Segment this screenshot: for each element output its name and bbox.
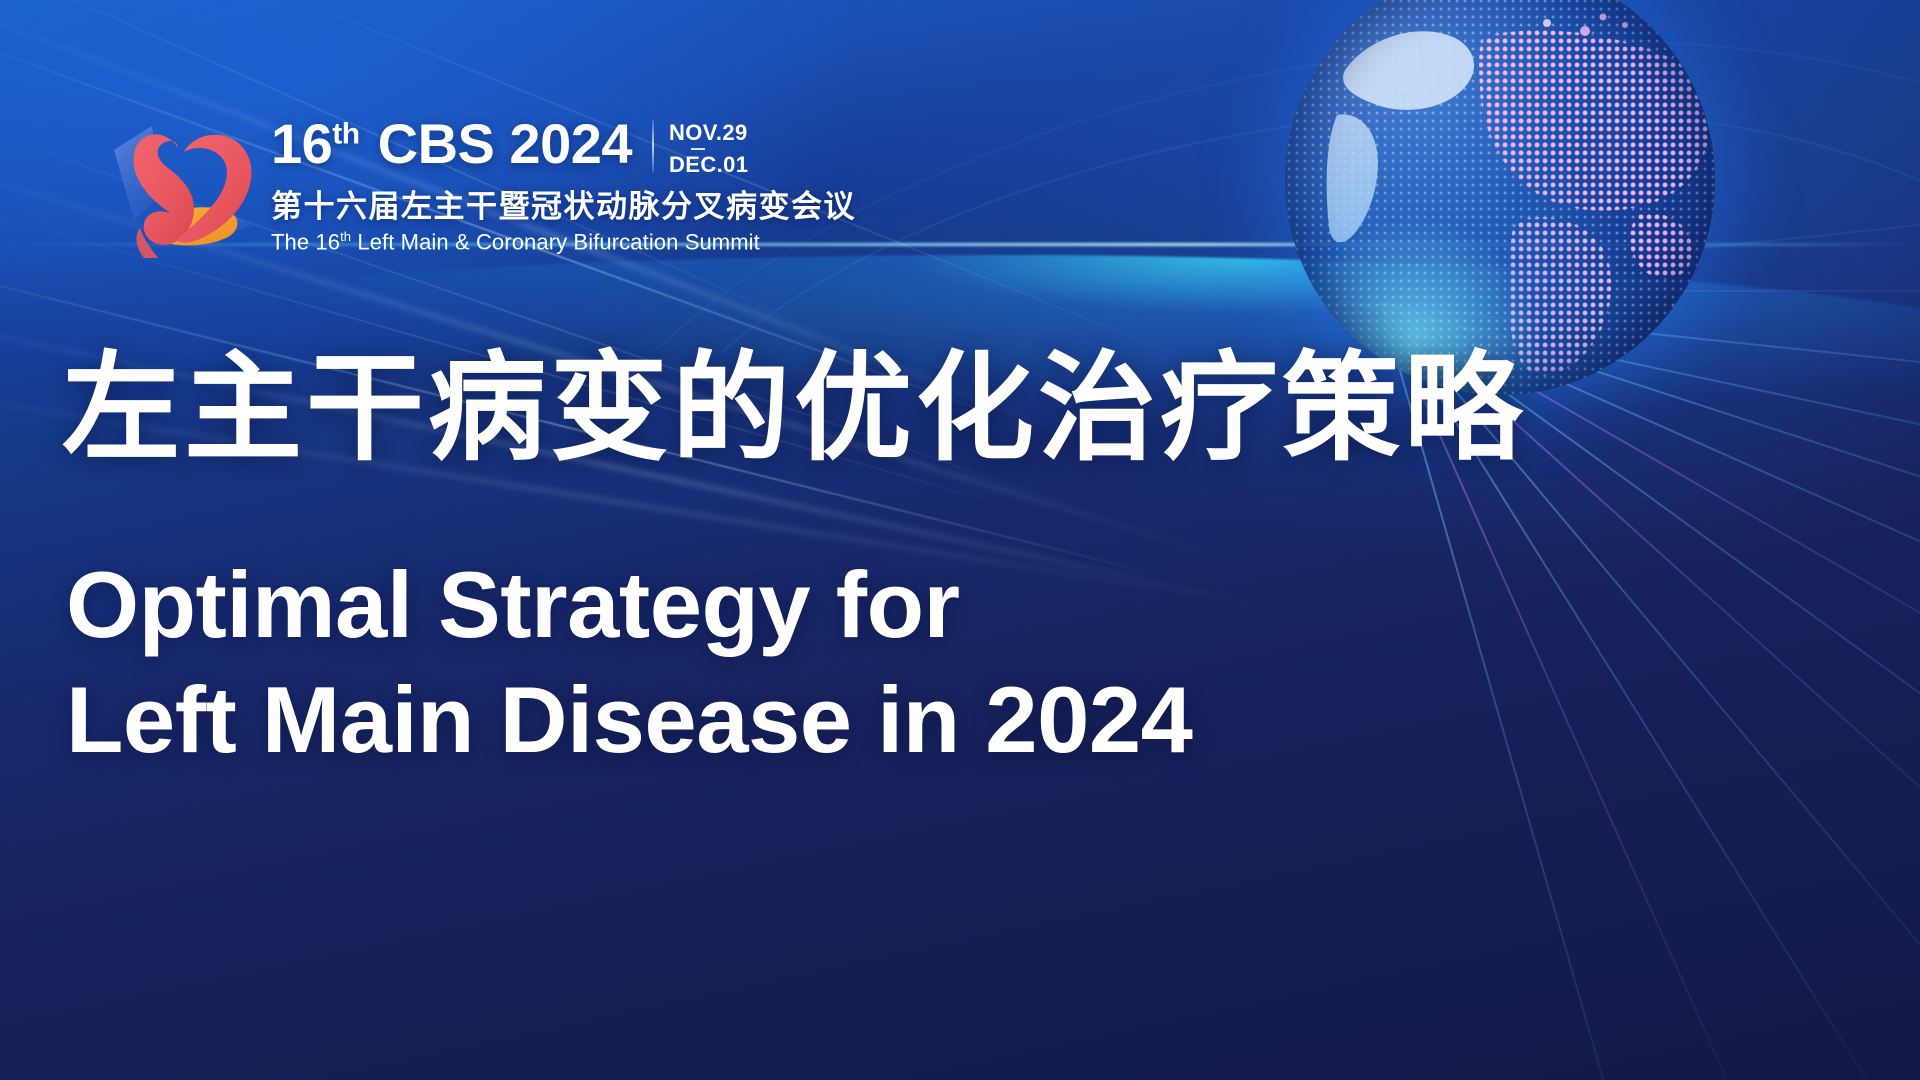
presentation-slide: 16thCBS 2024 NOV.29 DEC.01 第十六届左主干暨冠状动脉分… bbox=[0, 0, 1920, 1080]
globe-halftone-dots bbox=[1285, 0, 1715, 395]
globe-continents bbox=[1285, 0, 1715, 395]
conference-chinese-name: 第十六届左主干暨冠状动脉分叉病变会议 bbox=[271, 190, 856, 225]
logo-title-row: 16thCBS 2024 NOV.29 DEC.01 bbox=[271, 116, 856, 178]
edition-ordinal: th bbox=[332, 117, 359, 150]
globe-rim bbox=[1285, 0, 1715, 395]
english-name-prefix: The 16 bbox=[271, 230, 340, 255]
dotted-world-globe bbox=[1285, 0, 1715, 395]
conference-acronym: CBS bbox=[378, 112, 495, 175]
conference-dates: NOV.29 DEC.01 bbox=[669, 116, 748, 178]
slide-english-title: Optimal Strategy for Left Main Disease i… bbox=[66, 548, 1192, 777]
conference-name: 16thCBS 2024 bbox=[271, 116, 632, 172]
slide-english-title-line2: Left Main Disease in 2024 bbox=[66, 663, 1192, 778]
date-range-dash bbox=[691, 148, 705, 150]
english-name-ordinal: th bbox=[340, 229, 351, 244]
slide-chinese-title: 左主干病变的优化治疗策略 bbox=[62, 348, 1526, 472]
date-end: DEC.01 bbox=[669, 152, 748, 178]
logo-text-stack: 16thCBS 2024 NOV.29 DEC.01 第十六届左主干暨冠状动脉分… bbox=[271, 110, 856, 256]
conference-logo-block: 16thCBS 2024 NOV.29 DEC.01 第十六届左主干暨冠状动脉分… bbox=[100, 108, 856, 258]
edition-number: 16 bbox=[271, 112, 332, 175]
slide-english-title-line1: Optimal Strategy for bbox=[66, 548, 1192, 663]
conference-english-name: The 16th Left Main & Coronary Bifurcatio… bbox=[271, 229, 856, 256]
english-name-suffix: Left Main & Coronary Bifurcation Summit bbox=[351, 230, 760, 255]
date-divider bbox=[652, 120, 654, 172]
conference-year: 2024 bbox=[509, 112, 632, 175]
cbs-heart-logo-icon bbox=[100, 108, 265, 258]
globe-highlight bbox=[1285, 0, 1715, 395]
date-start: NOV.29 bbox=[669, 120, 748, 146]
